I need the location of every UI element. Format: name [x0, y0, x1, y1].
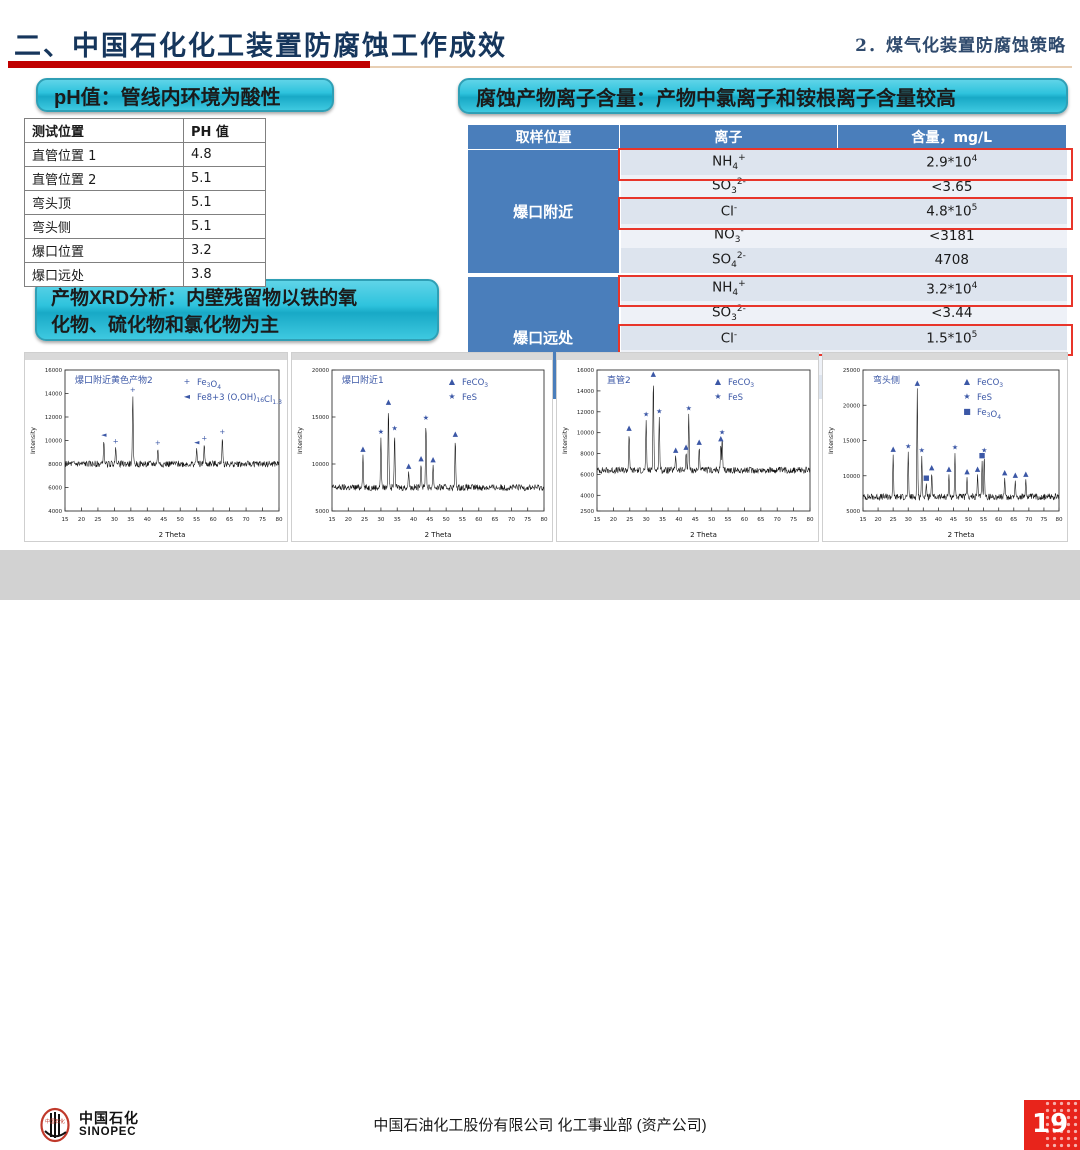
callout-ph-label: pH值：管线内环境为酸性	[54, 81, 281, 110]
table-header-row: 测试位置 PH 值	[25, 119, 266, 143]
ion-col-ion: 离子	[620, 125, 837, 150]
ph-cell-value: 4.8	[183, 143, 265, 167]
svg-text:15: 15	[61, 517, 69, 523]
ph-cell-location: 弯头侧	[25, 215, 184, 239]
svg-text:20: 20	[610, 517, 618, 523]
svg-text:Intensity: Intensity	[828, 427, 835, 454]
chart-peak-marker: ▲	[964, 468, 970, 476]
svg-text:8000: 8000	[48, 462, 62, 468]
callout-xrd-analysis: 产物XRD分析：内壁残留物以铁的氧 化物、硫化物和氯化物为主	[35, 279, 439, 341]
chart-legend-marker: ▲	[964, 377, 971, 386]
chart-peak-marker: ▲	[418, 455, 424, 463]
chart-title: 直管2	[607, 374, 631, 386]
svg-text:60: 60	[475, 517, 483, 523]
xrd-chart-panel-2: 1520253035404550556065707580500010000150…	[291, 352, 553, 542]
svg-text:20: 20	[78, 517, 86, 523]
svg-text:45: 45	[426, 517, 434, 523]
svg-text:20: 20	[875, 517, 883, 523]
svg-text:6000: 6000	[580, 472, 594, 478]
svg-text:75: 75	[524, 517, 532, 523]
chart-peak-marker: ★	[643, 411, 649, 419]
svg-text:15: 15	[859, 517, 867, 523]
ion-cell-amount: <3.44	[837, 301, 1066, 326]
ph-cell-location: 直管位置 1	[25, 143, 184, 167]
chart-legend-marker: ★	[963, 392, 970, 401]
svg-text:65: 65	[1010, 517, 1018, 523]
svg-text:20000: 20000	[312, 368, 330, 374]
xrd-chart-svg: 1520253035404550556065707580500010000150…	[823, 360, 1067, 541]
svg-text:20000: 20000	[843, 403, 861, 409]
chart-peak-marker: ▲	[929, 463, 935, 471]
ion-cell-amount: 4.8*105	[837, 199, 1066, 224]
callout-ion-content: 腐蚀产物离子含量：产物中氯离子和铵根离子含量较高	[458, 78, 1068, 114]
svg-text:75: 75	[1040, 517, 1048, 523]
chart-peak-marker: ▲	[673, 446, 679, 454]
svg-text:30: 30	[905, 517, 913, 523]
svg-text:16000: 16000	[45, 368, 63, 374]
svg-text:2 Theta: 2 Theta	[425, 531, 452, 539]
svg-text:25000: 25000	[843, 368, 861, 374]
svg-text:25: 25	[361, 517, 369, 523]
svg-text:25: 25	[94, 517, 102, 523]
svg-text:60: 60	[995, 517, 1003, 523]
chart-peak-marker: ▲	[946, 465, 952, 473]
panel-topbar	[292, 353, 552, 360]
page-title: 二、中国石化化工装置防腐蚀工作成效	[14, 24, 507, 63]
footer-bottom-strip	[0, 600, 1080, 608]
xrd-chart-svg: 1520253035404550556065707580250040006000…	[557, 360, 818, 541]
svg-text:15000: 15000	[843, 439, 861, 445]
ph-cell-value: 5.1	[183, 191, 265, 215]
chart-peak-marker: ▲	[1002, 468, 1008, 476]
table-row: 爆口远处3.8	[25, 263, 266, 287]
chart-peak-marker: ▲	[406, 462, 412, 470]
svg-text:55: 55	[459, 517, 467, 523]
chart-peak-marker: ▲	[683, 443, 689, 451]
ion-cell-species: Cl-	[620, 326, 837, 351]
svg-text:15: 15	[593, 517, 601, 523]
svg-text:80: 80	[806, 517, 814, 523]
svg-text:5000: 5000	[846, 509, 860, 515]
chart-peak-marker: ▲	[915, 379, 921, 387]
chart-peak-marker: ▲	[453, 430, 459, 438]
svg-text:10000: 10000	[45, 439, 63, 445]
ion-cell-amount: 3.2*104	[837, 277, 1066, 302]
ph-cell-location: 爆口远处	[25, 263, 184, 287]
svg-text:2 Theta: 2 Theta	[948, 531, 975, 539]
chart-peak-marker: ◄	[101, 431, 107, 439]
chart-peak-marker: ▲	[1013, 471, 1019, 479]
ion-cell-species: SO42-	[620, 248, 837, 273]
svg-text:70: 70	[1025, 517, 1033, 523]
chart-peak-marker: ★	[656, 408, 662, 416]
callout-xrd-line2: 化物、硫化物和氯化物为主	[51, 312, 427, 339]
svg-text:55: 55	[193, 517, 201, 523]
svg-text:50: 50	[443, 517, 451, 523]
chart-peak-marker: ★	[919, 447, 925, 455]
svg-text:40: 40	[675, 517, 683, 523]
table-row: 爆口位置3.2	[25, 239, 266, 263]
chart-title: 爆口附近1	[342, 374, 384, 386]
chart-legend-marker: ▲	[715, 377, 722, 386]
ph-col-value: PH 值	[183, 119, 265, 143]
slide-root: 二、中国石化化工装置防腐蚀工作成效 2．煤气化装置防腐蚀策略 pH值：管线内环境…	[0, 0, 1080, 608]
section-subtitle: 2．煤气化装置防腐蚀策略	[855, 31, 1066, 56]
table-row: 爆口附近NH4+2.9*104	[468, 150, 1067, 175]
chart-peak-marker: +	[113, 437, 119, 445]
svg-text:75: 75	[790, 517, 798, 523]
svg-text:20: 20	[345, 517, 353, 523]
svg-text:65: 65	[226, 517, 234, 523]
svg-text:40: 40	[144, 517, 152, 523]
svg-text:60: 60	[210, 517, 218, 523]
page-number: 19	[1032, 1109, 1068, 1139]
chart-legend-marker: ▲	[449, 377, 456, 386]
table-header-row: 取样位置 离子 含量，mg/L	[468, 125, 1067, 150]
xrd-chart-svg: 1520253035404550556065707580400060008000…	[25, 360, 287, 541]
xrd-chart-panel-1: 1520253035404550556065707580400060008000…	[24, 352, 288, 542]
chart-peak-marker: ★	[686, 404, 692, 412]
chart-legend-marker: ■	[963, 407, 971, 416]
ion-cell-species: NO3-	[620, 224, 837, 249]
chart-peak-marker: ▲	[975, 465, 981, 473]
ion-cell-amount: <3181	[837, 224, 1066, 249]
ph-col-location: 测试位置	[25, 119, 184, 143]
chart-peak-marker: ★	[423, 414, 429, 422]
chart-peak-marker: ★	[952, 444, 958, 452]
chart-peak-marker: ▲	[430, 455, 436, 463]
chart-peak-marker: +	[155, 439, 161, 447]
svg-text:25: 25	[890, 517, 898, 523]
ion-cell-amount: 2.9*104	[837, 150, 1066, 175]
chart-peak-marker: +	[130, 386, 136, 394]
svg-text:55: 55	[980, 517, 988, 523]
svg-text:35: 35	[920, 517, 928, 523]
ion-col-location: 取样位置	[468, 125, 620, 150]
callout-ph-value: pH值：管线内环境为酸性	[36, 78, 334, 112]
svg-text:5000: 5000	[315, 509, 329, 515]
ph-cell-value: 3.2	[183, 239, 265, 263]
svg-text:4000: 4000	[580, 493, 594, 499]
svg-text:30: 30	[643, 517, 651, 523]
ph-cell-location: 爆口位置	[25, 239, 184, 263]
table-row: 弯头顶5.1	[25, 191, 266, 215]
svg-text:60: 60	[741, 517, 749, 523]
header-rule-red	[8, 61, 370, 68]
svg-text:15000: 15000	[312, 415, 330, 421]
ph-table-body: 直管位置 14.8直管位置 25.1弯头顶5.1弯头侧5.1爆口位置3.2爆口远…	[25, 143, 266, 287]
footer-bar: 中国石化 中国石化 SINOPEC 中国石油化工股份有限公司 化工事业部 (资产…	[0, 550, 1080, 600]
svg-text:65: 65	[757, 517, 765, 523]
chart-legend-label: FeS	[977, 393, 992, 403]
ion-cell-species: SO32-	[620, 175, 837, 200]
table-row: 直管位置 25.1	[25, 167, 266, 191]
ion-cell-amount: 1.5*105	[837, 326, 1066, 351]
svg-text:50: 50	[177, 517, 185, 523]
svg-text:35: 35	[394, 517, 402, 523]
chart-title: 爆口附近黄色产物2	[75, 374, 153, 386]
table-row: 直管位置 14.8	[25, 143, 266, 167]
svg-text:75: 75	[259, 517, 267, 523]
svg-text:65: 65	[492, 517, 500, 523]
page-number-badge: 19	[1024, 1100, 1080, 1150]
svg-text:10000: 10000	[577, 431, 595, 437]
svg-text:14000: 14000	[577, 389, 595, 395]
svg-text:2 Theta: 2 Theta	[690, 531, 717, 539]
xrd-chart-panel-4: 1520253035404550556065707580500010000150…	[822, 352, 1068, 542]
chart-peak-marker: ★	[981, 447, 987, 455]
svg-text:Intensity: Intensity	[30, 427, 37, 454]
xrd-chart-panel-3: 1520253035404550556065707580250040006000…	[556, 352, 819, 542]
svg-text:30: 30	[111, 517, 119, 523]
svg-text:45: 45	[950, 517, 958, 523]
svg-text:2500: 2500	[580, 509, 594, 515]
svg-text:Intensity: Intensity	[297, 427, 304, 454]
panel-topbar	[823, 353, 1067, 360]
ion-col-amount: 含量，mg/L	[837, 125, 1066, 150]
svg-text:50: 50	[965, 517, 973, 523]
ph-cell-location: 直管位置 2	[25, 167, 184, 191]
chart-legend-marker: ★	[448, 392, 455, 401]
chart-legend-marker: ★	[714, 392, 721, 401]
chart-peak-marker: ★	[905, 442, 911, 450]
ph-cell-value: 5.1	[183, 215, 265, 239]
chart-peak-marker: ◄	[194, 439, 200, 447]
svg-text:70: 70	[243, 517, 251, 523]
svg-text:12000: 12000	[45, 415, 63, 421]
ph-value-table: 测试位置 PH 值 直管位置 14.8直管位置 25.1弯头顶5.1弯头侧5.1…	[24, 118, 266, 287]
svg-text:4000: 4000	[48, 509, 62, 515]
svg-text:70: 70	[774, 517, 782, 523]
svg-text:45: 45	[160, 517, 168, 523]
svg-text:8000: 8000	[580, 452, 594, 458]
footer-center-text: 中国石油化工股份有限公司 化工事业部 (资产公司)	[0, 1114, 1080, 1135]
chart-legend-marker: +	[184, 377, 191, 386]
svg-text:14000: 14000	[45, 392, 63, 398]
chart-legend-marker: ◄	[184, 392, 191, 401]
chart-title: 弯头侧	[873, 374, 900, 386]
chart-peak-marker: +	[219, 428, 225, 436]
svg-text:40: 40	[410, 517, 418, 523]
svg-text:80: 80	[1055, 517, 1063, 523]
svg-text:35: 35	[659, 517, 667, 523]
panel-topbar	[25, 353, 287, 360]
chart-peak-marker: ★	[719, 428, 725, 436]
ion-cell-species: NH4+	[620, 277, 837, 302]
ph-cell-value: 5.1	[183, 167, 265, 191]
chart-peak-marker: ★	[378, 428, 384, 436]
chart-legend-label: FeS	[462, 393, 477, 403]
svg-text:25: 25	[626, 517, 634, 523]
svg-text:55: 55	[725, 517, 733, 523]
panel-topbar	[557, 353, 818, 360]
chart-peak-marker: ▲	[360, 445, 366, 453]
chart-peak-marker: ▲	[651, 370, 657, 378]
ph-cell-location: 弯头顶	[25, 191, 184, 215]
chart-peak-marker: ■	[923, 474, 930, 482]
ion-cell-species: Cl-	[620, 199, 837, 224]
ph-cell-value: 3.8	[183, 263, 265, 287]
svg-text:45: 45	[692, 517, 700, 523]
svg-text:50: 50	[708, 517, 716, 523]
chart-legend-label: FeS	[728, 393, 743, 403]
ion-cell-species: NH4+	[620, 150, 837, 175]
ion-cell-species: SO32-	[620, 301, 837, 326]
svg-text:10000: 10000	[843, 474, 861, 480]
svg-text:80: 80	[540, 517, 548, 523]
svg-text:30: 30	[377, 517, 385, 523]
table-row: 爆口远处NH4+3.2*104	[468, 277, 1067, 302]
xrd-chart-svg: 1520253035404550556065707580500010000150…	[292, 360, 552, 541]
svg-text:16000: 16000	[577, 368, 595, 374]
callout-xrd-line1: 产物XRD分析：内壁残留物以铁的氧	[51, 285, 427, 312]
chart-peak-marker: ▲	[1023, 470, 1029, 478]
svg-text:35: 35	[127, 517, 135, 523]
svg-text:2 Theta: 2 Theta	[159, 531, 186, 539]
table-row: 弯头侧5.1	[25, 215, 266, 239]
chart-peak-marker: ▲	[890, 445, 896, 453]
svg-text:70: 70	[508, 517, 516, 523]
chart-peak-marker: ▲	[626, 424, 632, 432]
svg-text:12000: 12000	[577, 410, 595, 416]
ion-cell-location: 爆口附近	[468, 150, 620, 273]
ion-cell-amount: 4708	[837, 248, 1066, 273]
svg-text:80: 80	[275, 517, 283, 523]
chart-peak-marker: ★	[391, 424, 397, 432]
chart-peak-marker: ▲	[386, 398, 392, 406]
ion-cell-amount: <3.65	[837, 175, 1066, 200]
svg-text:40: 40	[935, 517, 943, 523]
svg-text:6000: 6000	[48, 486, 62, 492]
svg-text:Intensity: Intensity	[562, 427, 569, 454]
svg-text:10000: 10000	[312, 462, 330, 468]
chart-peak-marker: ▲	[697, 438, 703, 446]
svg-text:15: 15	[328, 517, 336, 523]
callout-ion-label: 腐蚀产物离子含量：产物中氯离子和铵根离子含量较高	[476, 82, 956, 111]
chart-peak-marker: +	[201, 435, 207, 443]
